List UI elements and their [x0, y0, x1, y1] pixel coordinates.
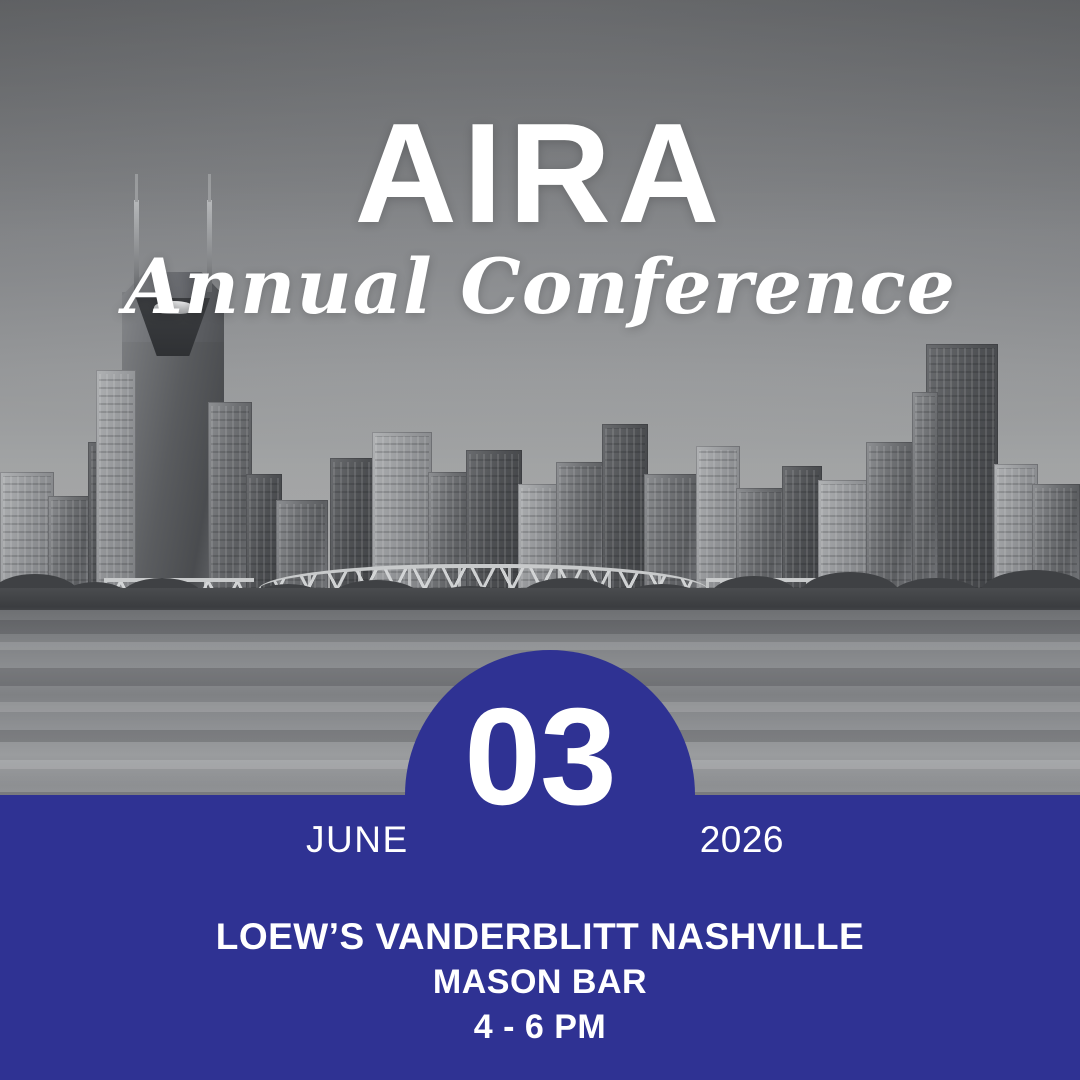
building: [912, 392, 938, 592]
venue-room: MASON BAR: [0, 960, 1080, 1005]
event-poster: AIRA Annual Conference 03 JUNE 2026 LOEW…: [0, 0, 1080, 1080]
event-month: JUNE: [306, 819, 409, 861]
building: [96, 370, 136, 592]
page-subtitle: Annual Conference: [0, 243, 1080, 330]
venue-name: LOEW’S VANDERBLITT NASHVILLE: [0, 913, 1080, 960]
venue-block: LOEW’S VANDERBLITT NASHVILLE MASON BAR 4…: [0, 913, 1080, 1051]
event-year: 2026: [700, 819, 784, 861]
event-day: 03: [0, 688, 1080, 826]
page-title: AIRA: [0, 103, 1080, 245]
event-time: 4 - 6 PM: [0, 1005, 1080, 1051]
